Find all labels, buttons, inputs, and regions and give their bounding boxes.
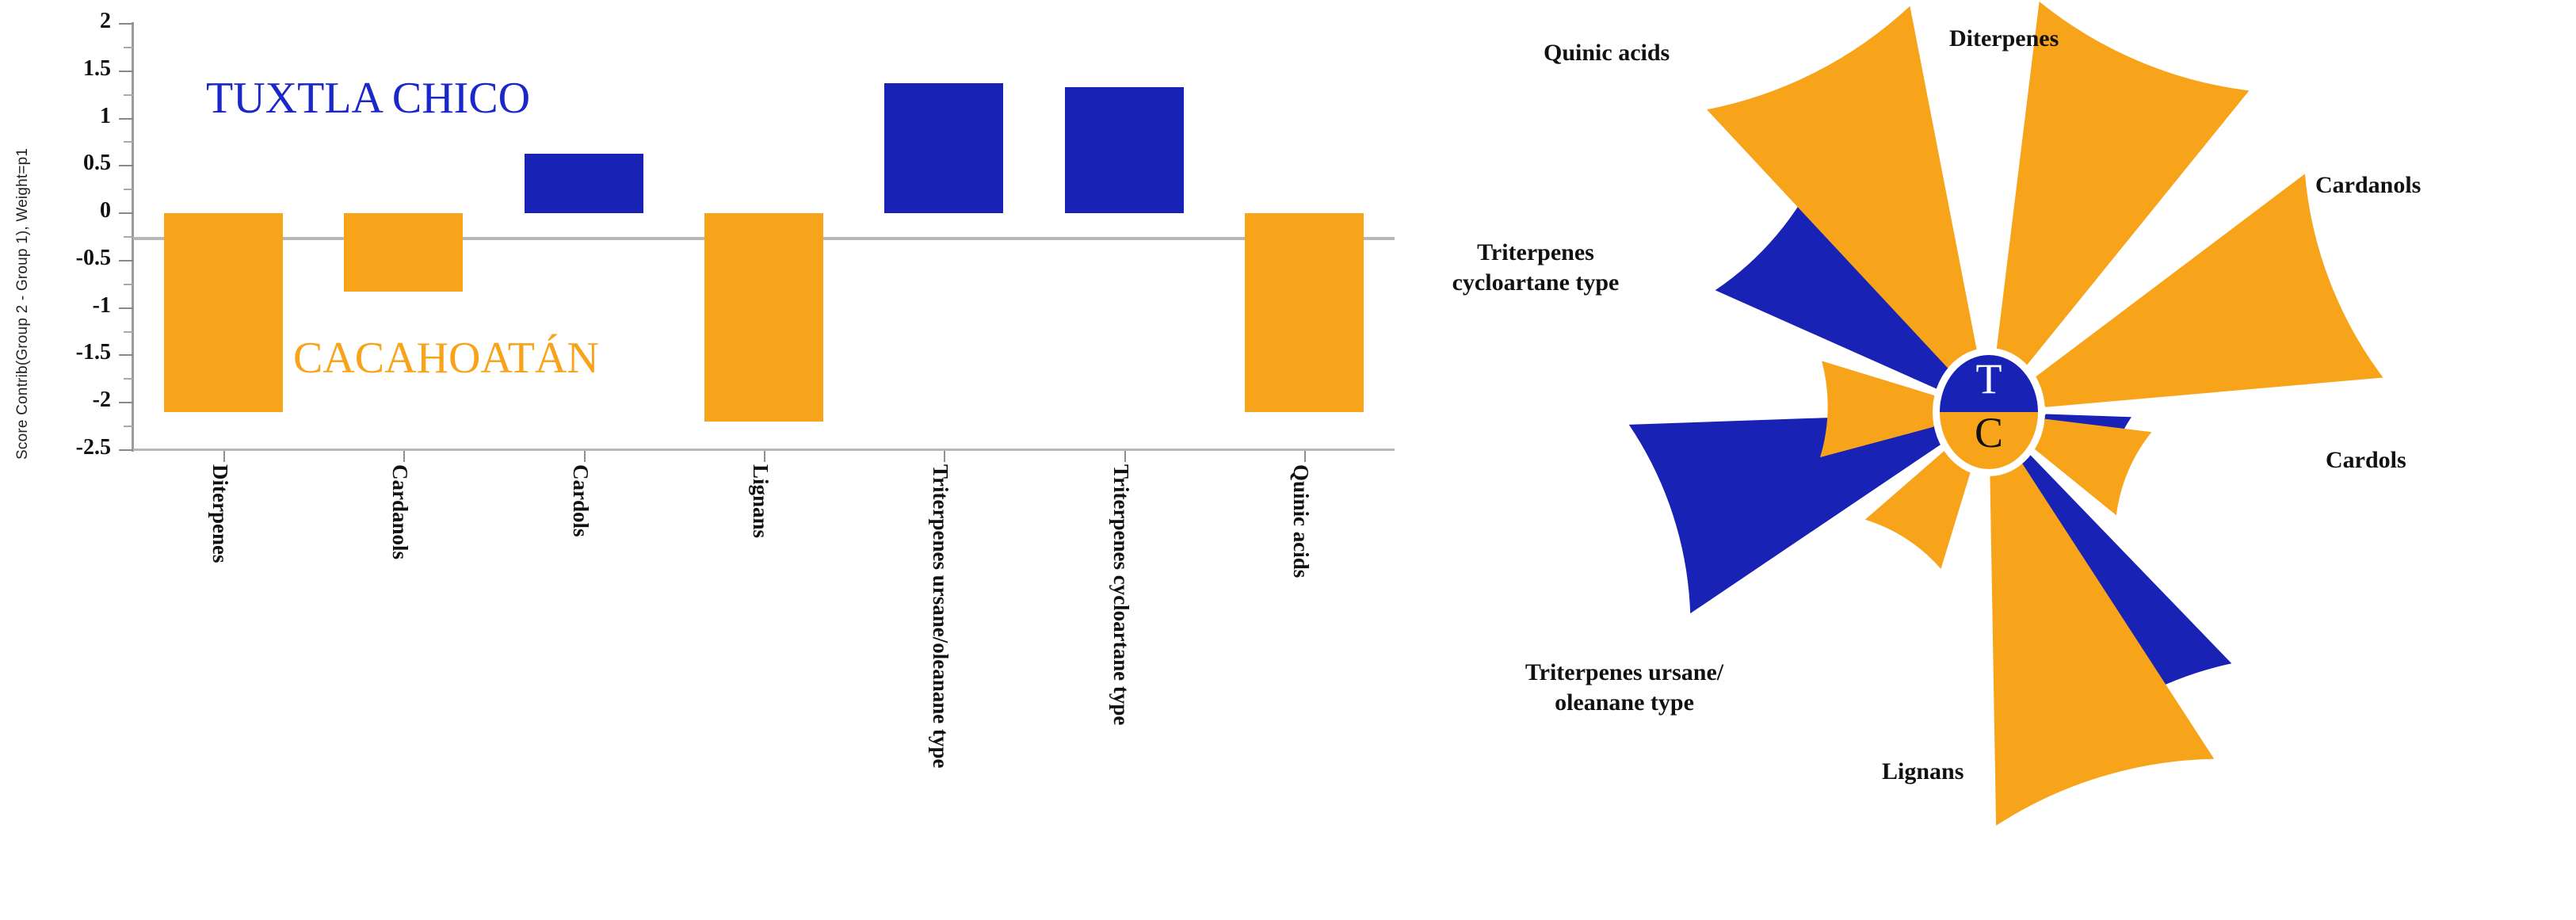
- x-tick: [764, 451, 765, 462]
- rose-label-cardols: Cardols: [2326, 445, 2406, 475]
- y-tick-major: [119, 260, 133, 261]
- y-tick-label: 1.5: [16, 56, 111, 82]
- annotation-tuxtla-chico: TUXTLA CHICO: [206, 73, 530, 124]
- y-tick-minor: [124, 94, 133, 96]
- x-tick-label: Diterpenes: [208, 464, 232, 563]
- y-tick-major: [119, 307, 133, 309]
- y-tick-minor: [124, 47, 133, 48]
- rose-label-lignans: Lignans: [1882, 757, 1963, 787]
- x-tick-label: Lignans: [748, 464, 773, 538]
- y-tick-minor: [124, 189, 133, 190]
- rose-label-triterpenes-cycloartane-line2: cycloartane type: [1417, 268, 1654, 298]
- x-tick: [584, 451, 586, 462]
- y-tick-major: [119, 165, 133, 166]
- y-tick-minor: [124, 284, 133, 285]
- y-tick-major: [119, 118, 133, 120]
- x-tick-label: Quinic acids: [1288, 464, 1313, 578]
- rose-label-triterpenes-ursane-line1: Triterpenes ursane/: [1470, 658, 1779, 688]
- y-tick-major: [119, 71, 133, 72]
- x-tick: [1304, 451, 1306, 462]
- x-tick: [223, 451, 225, 462]
- bar-chart-panel: Score Contrib(Group 2 - Group 1), Weight…: [0, 0, 1426, 920]
- x-tick: [1124, 451, 1126, 462]
- bar-cardanols: [344, 213, 463, 292]
- y-tick-label: 0.5: [16, 151, 111, 176]
- bar-diterpenes: [164, 213, 283, 412]
- y-tick-major: [119, 212, 133, 214]
- center-letter-t: T: [1976, 355, 2002, 403]
- rose-label-triterpenes-ursane: Triterpenes ursane/ oleanane type: [1470, 658, 1779, 717]
- rose-label-cardanols: Cardanols: [2315, 170, 2421, 200]
- y-tick-label: 1: [16, 104, 111, 129]
- y-tick-label: 2: [16, 9, 111, 34]
- y-tick-minor: [124, 426, 133, 427]
- rose-label-triterpenes-cycloartane: Triterpenes cycloartane type: [1417, 238, 1654, 297]
- x-tick-label: Triterpenes cycloartane type: [1109, 464, 1133, 725]
- rose-label-quinic-acids: Quinic acids: [1544, 38, 1670, 68]
- y-tick-major: [119, 354, 133, 356]
- center-badge: TC: [1933, 348, 2045, 476]
- rose-label-diterpenes: Diterpenes: [1949, 24, 2059, 54]
- y-tick-minor: [124, 236, 133, 238]
- y-tick-major: [119, 402, 133, 403]
- y-tick-minor: [124, 331, 133, 333]
- y-tick-major: [119, 449, 133, 451]
- x-tick-label: Triterpenes ursane/oleanane type: [928, 464, 952, 768]
- x-tick: [944, 451, 945, 462]
- rose-label-triterpenes-ursane-line2: oleanane type: [1470, 688, 1779, 718]
- y-tick-label: -1.5: [16, 340, 111, 365]
- bar-triterpenes-ursane-oleanane-type: [884, 83, 1003, 213]
- y-tick-minor: [124, 378, 133, 380]
- y-tick-label: -0.5: [16, 246, 111, 271]
- y-tick-label: -2: [16, 387, 111, 413]
- x-tick: [403, 451, 405, 462]
- bar-quinic-acids: [1245, 213, 1364, 412]
- rose-label-triterpenes-cycloartane-line1: Triterpenes: [1417, 238, 1654, 268]
- y-tick-label: -2.5: [16, 435, 111, 460]
- bar-triterpenes-cycloartane-type: [1065, 87, 1184, 213]
- y-tick-major: [119, 23, 133, 25]
- bar-cardols: [525, 154, 643, 213]
- y-tick-label: -1: [16, 293, 111, 319]
- annotation-cacahoatan: CACAHOATÁN: [293, 333, 599, 384]
- center-letter-c: C: [1975, 409, 2003, 456]
- rose-diagram-panel: TC Diterpenes Quinic acids Cardanols Car…: [1426, 0, 2576, 920]
- y-tick-label: 0: [16, 198, 111, 223]
- x-tick-label: Cardols: [568, 464, 593, 537]
- y-tick-minor: [124, 141, 133, 143]
- x-tick-label: Cardanols: [387, 464, 412, 559]
- bar-lignans: [704, 213, 823, 422]
